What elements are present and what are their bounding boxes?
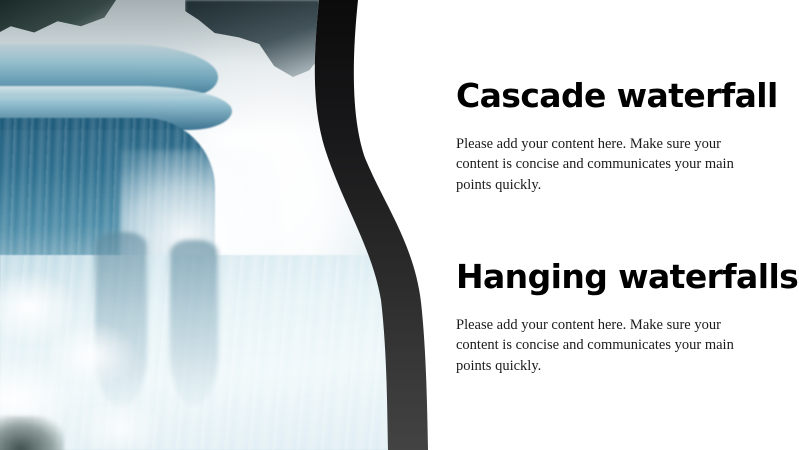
content-block-cascade: Cascade waterfall Please add your conten…	[456, 78, 756, 195]
body-text-hanging-waterfalls: Please add your content here. Make sure …	[456, 296, 741, 377]
photo-vignette	[0, 0, 440, 450]
waterfall-photo	[0, 0, 440, 450]
heading-hanging-waterfalls: Hanging waterfalls	[456, 259, 761, 296]
content-block-hanging: Hanging waterfalls Please add your conte…	[456, 259, 761, 376]
body-text-cascade-waterfall: Please add your content here. Make sure …	[456, 115, 741, 196]
content-panel: Cascade waterfall Please add your conten…	[456, 0, 776, 450]
slide-canvas: Cascade waterfall Please add your conten…	[0, 0, 799, 450]
heading-cascade-waterfall: Cascade waterfall	[456, 78, 756, 115]
photo-panel	[0, 0, 440, 450]
